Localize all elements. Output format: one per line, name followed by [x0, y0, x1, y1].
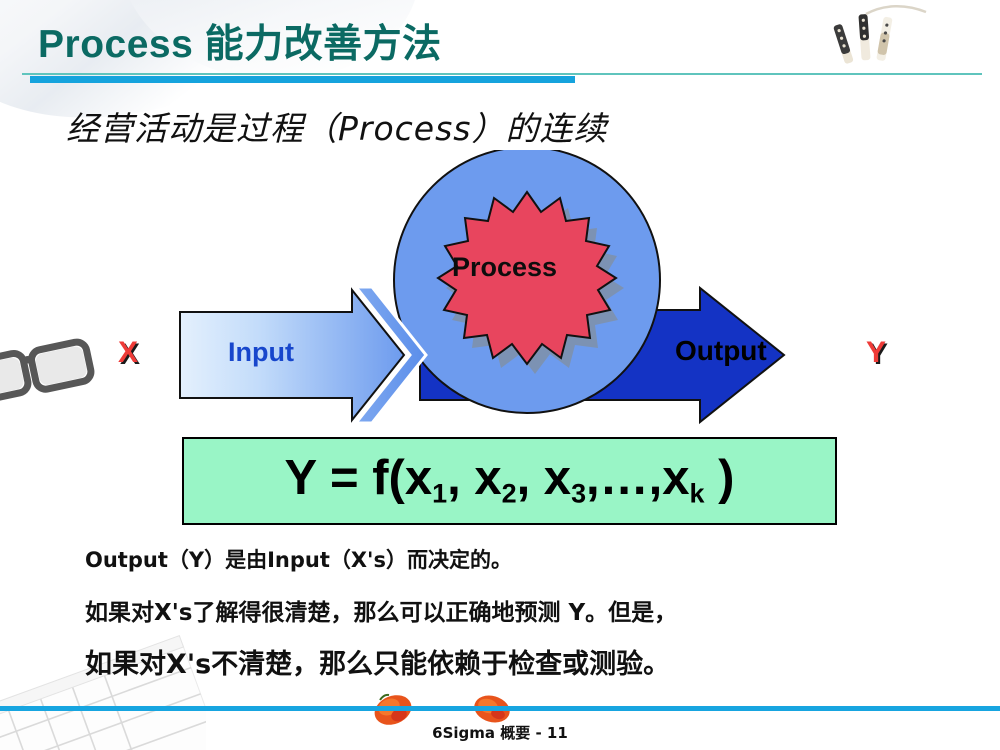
- process-starburst-label: Process: [452, 252, 557, 283]
- body-line: 如果对X's了解得很清楚，那么可以正确地预测 Y。但是，: [85, 593, 677, 627]
- formula-expression: Y = f(x1, x2, x3,…,xk ): [285, 454, 735, 508]
- input-variable-label: X: [118, 336, 138, 370]
- page-title-cjk: 能力改善方法: [205, 22, 442, 67]
- slide-canvas: Process 能力改善方法 经营活动是过程（Process）的连续: [0, 0, 1000, 750]
- formula-lhs: Y: [285, 451, 317, 505]
- header-rule-thick: [30, 76, 575, 83]
- page-title: Process 能力改善方法: [38, 13, 442, 69]
- page-title-en: Process: [38, 23, 193, 66]
- footer-page-label: 6Sigma 概要 - 11: [0, 722, 1000, 743]
- process-flow-diagram: [0, 150, 1000, 440]
- output-arrow-label: Output: [675, 335, 767, 367]
- formula-sep-1: , x: [447, 451, 501, 505]
- formula-close-paren: ): [705, 451, 735, 505]
- pens-photo-decoration: [808, 2, 928, 72]
- body-line: Output（Y）是由Input（X's）而决定的。: [85, 544, 512, 574]
- formula-sep-2: , x: [517, 451, 571, 505]
- header-rule-thin: [22, 73, 982, 75]
- formula-equals: =: [330, 451, 359, 505]
- body-line: 如果对X's不清楚，那么只能依赖于检查或测验。: [85, 642, 670, 681]
- formula-sub-2: 2: [502, 479, 517, 509]
- input-arrow: [180, 287, 426, 423]
- formula-sub-3: 3: [571, 479, 586, 509]
- input-arrow-label: Input: [228, 337, 294, 368]
- footer-rule: [0, 706, 1000, 711]
- formula-sub-k: k: [690, 479, 705, 509]
- slide-subtitle: 经营活动是过程（Process）的连续: [66, 102, 608, 150]
- formula-ellipsis: ,…,x: [586, 451, 689, 505]
- formula-sub-1: 1: [432, 479, 447, 509]
- output-variable-label: Y: [866, 336, 886, 370]
- formula-fn: f(x: [372, 451, 432, 505]
- formula-box: Y = f(x1, x2, x3,…,xk ): [182, 437, 837, 525]
